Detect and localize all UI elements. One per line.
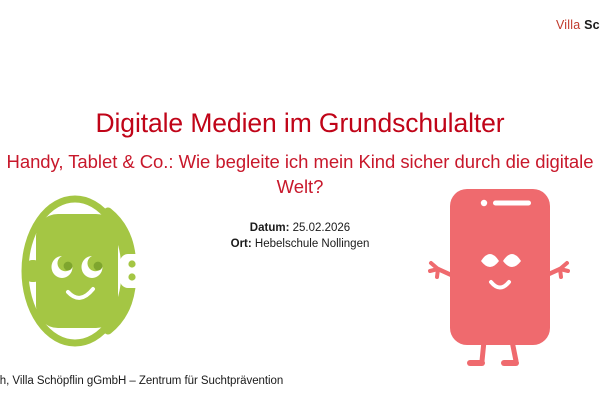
presentation-slide: Villa Sc Digitale Medien im Grundschulal…	[0, 0, 600, 400]
event-location-label: Ort:	[231, 238, 252, 250]
event-date-label: Datum:	[250, 222, 290, 234]
event-date-value: 25.02.2026	[293, 222, 351, 234]
logo-villa-text: Villa	[556, 18, 584, 32]
logo-schoepflin-text: Sc	[584, 18, 600, 32]
slide-title: Digitale Medien im Grundschulalter	[0, 108, 600, 138]
smartphone-character	[424, 183, 576, 379]
phone-camera-dot	[481, 200, 487, 206]
footer-credit: a Ruch, Villa Schöpflin gGmbH – Zentrum …	[0, 375, 283, 387]
watch-buckle	[120, 254, 144, 288]
phone-speaker-slot	[493, 201, 531, 206]
villa-schoepflin-logo: Villa Sc	[556, 18, 600, 32]
phone-body	[450, 189, 550, 345]
smartwatch-character	[8, 192, 160, 350]
event-location-value: Hebelschule Nollingen	[255, 238, 369, 250]
watch-body	[36, 214, 118, 328]
